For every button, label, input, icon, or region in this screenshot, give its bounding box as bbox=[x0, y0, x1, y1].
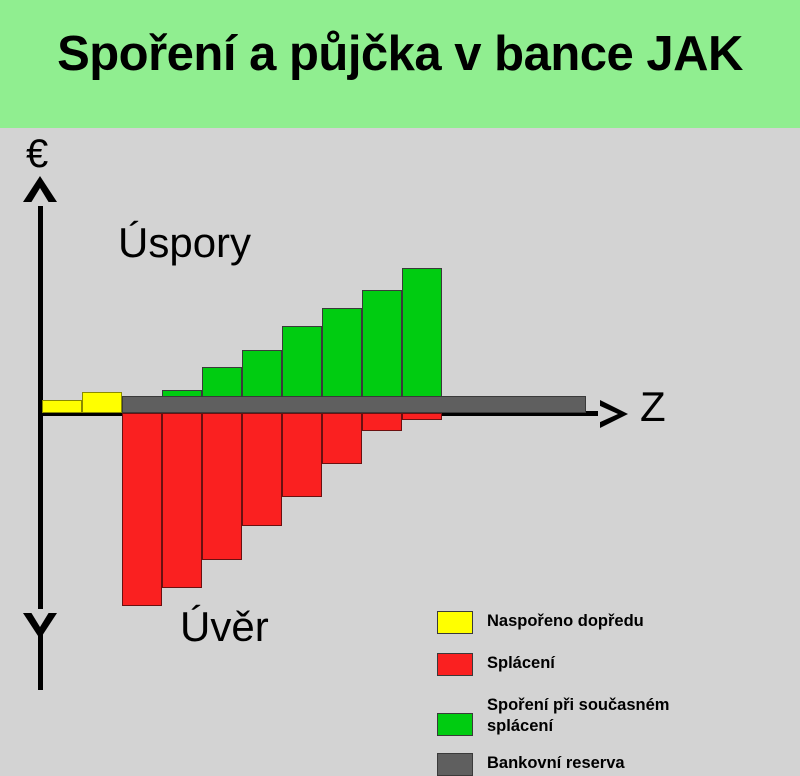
legend-item-label: Spoření při současném splácení bbox=[487, 695, 669, 737]
y-axis-down-arrow-icon bbox=[23, 613, 57, 639]
savings-region-caption: Úspory bbox=[118, 222, 251, 264]
legend-swatch-icon bbox=[437, 611, 473, 634]
bar-splácení-5 bbox=[282, 413, 322, 497]
legend-swatch-icon bbox=[437, 653, 473, 676]
bar-naspořeno-dopředu-1 bbox=[42, 400, 82, 413]
bar-splácení-2 bbox=[162, 413, 202, 588]
bar-splácení-4 bbox=[242, 413, 282, 526]
legend-item-1: Naspořeno dopředu bbox=[437, 611, 644, 634]
bar-splácení-7 bbox=[362, 413, 402, 431]
bar-bankovni-reserva bbox=[122, 396, 586, 413]
bar-splácení-3 bbox=[202, 413, 242, 560]
legend-item-label: Bankovní reserva bbox=[487, 753, 625, 774]
bar-spoření-6 bbox=[362, 290, 402, 413]
x-axis-label: Z bbox=[640, 386, 666, 428]
legend-swatch-icon bbox=[437, 753, 473, 776]
bar-splácení-6 bbox=[322, 413, 362, 464]
legend-item-2: Splácení bbox=[437, 653, 555, 676]
bar-naspořeno-dopředu-2 bbox=[82, 392, 122, 413]
title-banner: Spoření a půjčka v bance JAK bbox=[0, 0, 800, 128]
y-axis-up-arrow-icon bbox=[23, 176, 57, 202]
diagram-root: Spoření a půjčka v bance JAK € Z Úspory … bbox=[0, 0, 800, 683]
bar-spoření-7 bbox=[402, 268, 442, 413]
legend-swatch-icon bbox=[437, 713, 473, 736]
legend-item-label: Splácení bbox=[487, 653, 555, 674]
bar-splácení-8 bbox=[402, 413, 442, 420]
bar-splácení-1 bbox=[122, 413, 162, 606]
legend-item-label: Naspořeno dopředu bbox=[487, 611, 644, 632]
x-axis-arrow-icon bbox=[600, 400, 628, 428]
chart-canvas: € Z Úspory Úvěr Naspořeno dopředuSplácen… bbox=[0, 128, 800, 683]
page-title: Spoření a půjčka v bance JAK bbox=[0, 26, 800, 82]
legend-item-3: Spoření při současném splácení bbox=[437, 695, 669, 737]
y-axis-label: € bbox=[26, 134, 48, 174]
legend-item-4: Bankovní reserva bbox=[437, 753, 625, 776]
loan-region-caption: Úvěr bbox=[180, 606, 269, 648]
